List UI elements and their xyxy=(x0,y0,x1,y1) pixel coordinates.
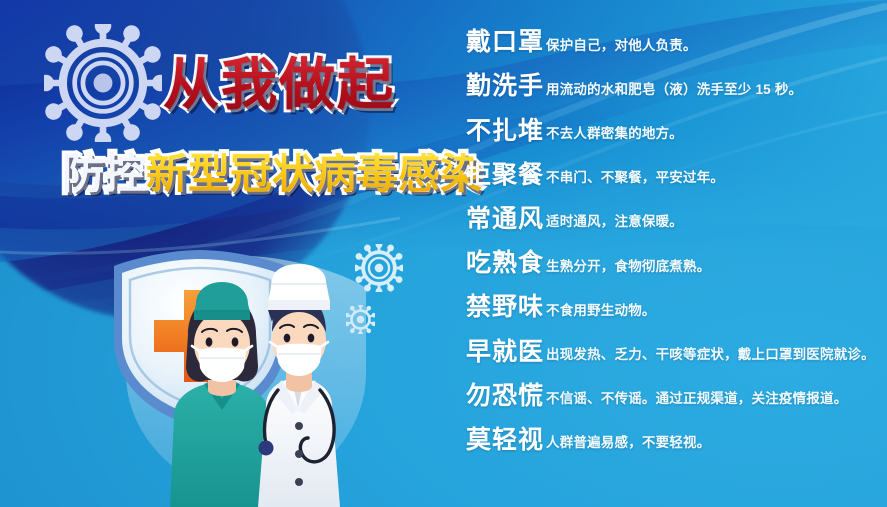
prevention-tips-list: 戴口罩 保护自己，对他人负责。 勤洗手 用流动的水和肥皂（液）洗手至少 15 秒… xyxy=(460,18,887,460)
tip-description: 保护自己，对他人负责。 xyxy=(546,39,697,53)
tip-description: 用流动的水和肥皂（液）洗手至少 15 秒。 xyxy=(546,83,802,97)
tip-description: 生熟分开，食物彻底煮熟。 xyxy=(546,260,710,274)
tip-description: 不信谣、不传谣。通过正规渠道，关注疫情报道。 xyxy=(546,392,847,406)
tip-headword: 不扎堆 xyxy=(466,119,544,144)
tip-description: 不串门、不聚餐，平安过年。 xyxy=(546,171,724,185)
stethoscope-bell xyxy=(259,441,274,456)
poster-subtitle-yellow-fill: 新型冠状病毒感染 xyxy=(146,153,482,195)
poster-left-column: 从我做起 从我做起 防控 防控 新型冠状病毒感染 新型冠状病毒感染 xyxy=(0,0,455,507)
tip-description: 不去人群密集的地方。 xyxy=(546,127,683,141)
tip-headword: 早就医 xyxy=(466,340,544,365)
poster-title: 从我做起 从我做起 xyxy=(163,57,395,113)
poster-subtitle-white: 防控 防控 xyxy=(62,153,146,195)
poster-title-fill: 从我做起 xyxy=(163,57,395,113)
tip-headword: 莫轻视 xyxy=(466,428,544,453)
list-item: 吃熟食 生熟分开，食物彻底煮熟。 xyxy=(460,239,887,283)
list-item: 禁野味 不食用野生动物。 xyxy=(460,283,887,327)
tip-headword: 禁野味 xyxy=(466,295,544,320)
coat-button xyxy=(295,478,303,486)
coat-button xyxy=(295,450,303,458)
tip-headword: 戴口罩 xyxy=(466,30,544,55)
tip-description: 不食用野生动物。 xyxy=(546,304,656,318)
list-item: 拒聚餐 不串门、不聚餐，平安过年。 xyxy=(460,151,887,195)
tip-headword: 吃熟食 xyxy=(466,251,544,276)
list-item: 戴口罩 保护自己，对他人负责。 xyxy=(460,18,887,62)
medical-staff-illustration xyxy=(96,248,396,507)
list-item: 常通风 适时通风，注意保暖。 xyxy=(460,195,887,239)
list-item: 勿恐慌 不信谣、不传谣。通过正规渠道，关注疫情报道。 xyxy=(460,372,887,416)
tip-headword: 勿恐慌 xyxy=(466,384,544,409)
tip-description: 适时通风，注意保暖。 xyxy=(546,215,683,229)
poster-subtitle-white-fill: 防控 xyxy=(62,153,146,195)
coat-button xyxy=(295,422,303,430)
list-item: 勤洗手 用流动的水和肥皂（液）洗手至少 15 秒。 xyxy=(460,62,887,106)
tip-description: 人群普遍易感，不要轻视。 xyxy=(546,436,710,450)
coronavirus-icon xyxy=(44,24,162,142)
list-item: 不扎堆 不去人群密集的地方。 xyxy=(460,106,887,150)
tip-headword: 拒聚餐 xyxy=(466,163,544,188)
poster-subtitle: 防控 防控 新型冠状病毒感染 新型冠状病毒感染 xyxy=(62,153,482,195)
poster-subtitle-yellow: 新型冠状病毒感染 新型冠状病毒感染 xyxy=(146,153,482,195)
tip-headword: 勤洗手 xyxy=(466,74,544,99)
covid-prevention-poster: 从我做起 从我做起 防控 防控 新型冠状病毒感染 新型冠状病毒感染 xyxy=(0,0,887,507)
tip-headword: 常通风 xyxy=(466,207,544,232)
tip-description: 出现发热、乏力、干咳等症状，戴上口罩到医院就诊。 xyxy=(546,348,875,362)
list-item: 早就医 出现发热、乏力、干咳等症状，戴上口罩到医院就诊。 xyxy=(460,327,887,371)
list-item: 莫轻视 人群普遍易感，不要轻视。 xyxy=(460,416,887,460)
